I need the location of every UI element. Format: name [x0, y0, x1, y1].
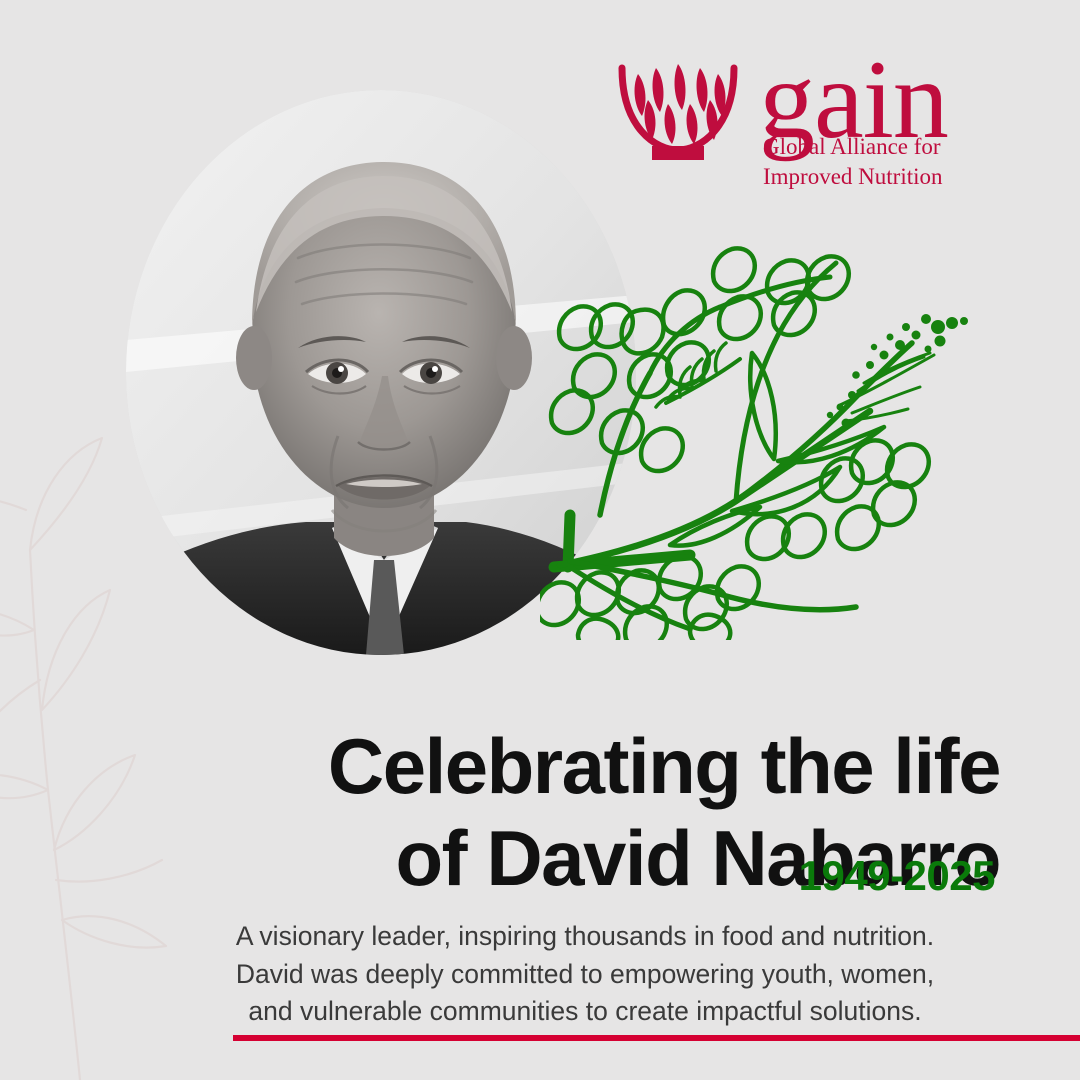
tribute-text-line-1: A visionary leader, inspiring thousands …	[160, 918, 1010, 956]
gain-logo: gain Global Alliance for Improved Nutrit…	[616, 52, 1016, 192]
gain-tagline-line2: Improved Nutrition	[763, 162, 943, 192]
portrait-photo	[126, 90, 636, 655]
tribute-text: A visionary leader, inspiring thousands …	[160, 918, 1010, 1031]
tribute-text-line-2: David was deeply committed to empowering…	[160, 956, 1010, 994]
gain-wordmark: gain Global Alliance for Improved Nutrit…	[759, 44, 1019, 169]
gain-tagline-line1: Global Alliance for	[763, 132, 943, 162]
tribute-text-line-3: and vulnerable communities to create imp…	[160, 993, 1010, 1031]
gain-tagline: Global Alliance for Improved Nutrition	[763, 132, 943, 193]
bottom-accent-rule	[233, 1035, 1080, 1041]
gain-bowl-wheat-logo-icon	[616, 58, 741, 163]
headline-line-1: Celebrating the life	[0, 720, 1000, 812]
tribute-card: gain Global Alliance for Improved Nutrit…	[0, 0, 1080, 1080]
life-dates: 1949-2025	[0, 852, 995, 900]
